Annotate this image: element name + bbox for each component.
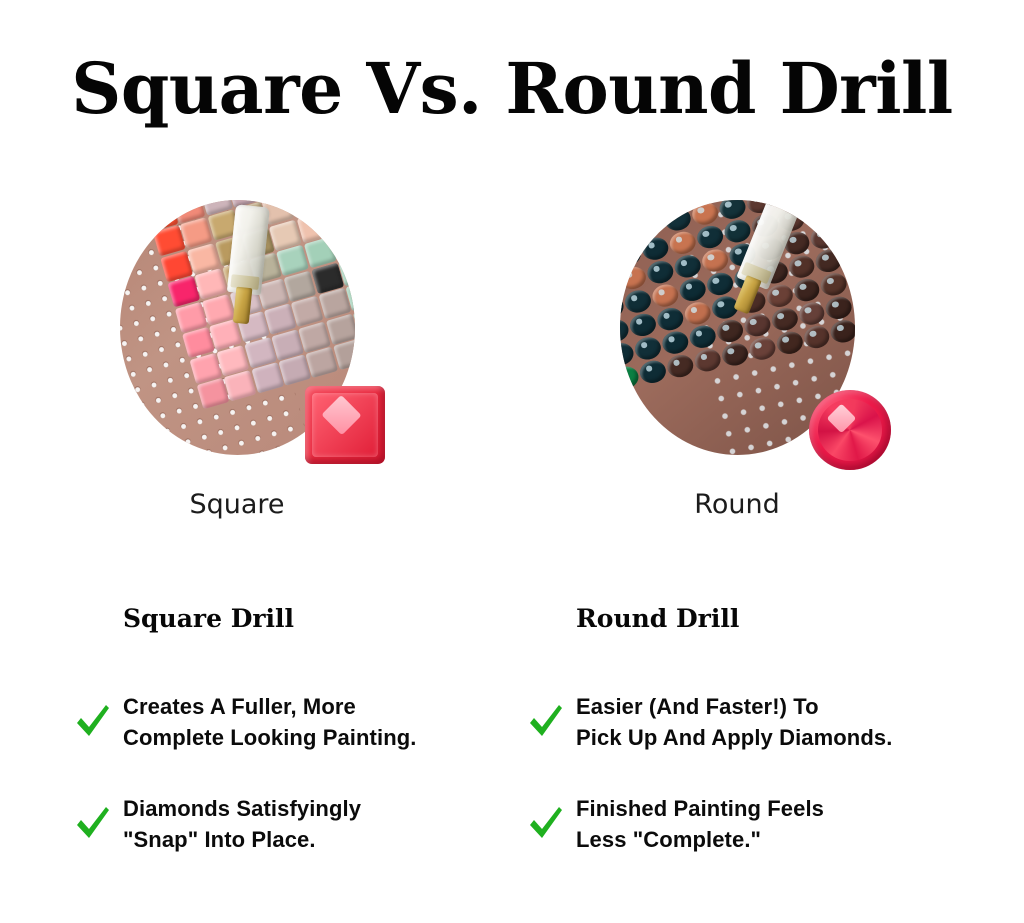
square-gem-swatch — [305, 386, 385, 464]
benefit-item: Diamonds Satisfyingly "Snap" Into Place. — [75, 793, 505, 855]
photo-comparison-row — [0, 200, 1024, 460]
round-photo-cell — [557, 200, 917, 460]
square-photo-cell — [57, 200, 417, 460]
green-check-icon — [75, 701, 111, 741]
round-drill-column: Round Drill Easier (And Faster!) To Pick… — [528, 604, 958, 895]
round-drill-heading: Round Drill — [576, 604, 958, 634]
page-title: Square Vs. Round Drill — [5, 46, 1019, 132]
square-drill-heading: Square Drill — [123, 604, 505, 634]
square-drill-column: Square Drill Creates A Fuller, More Comp… — [75, 604, 505, 895]
benefit-text: Finished Painting Feels Less "Complete." — [576, 793, 958, 855]
benefit-item: Finished Painting Feels Less "Complete." — [528, 793, 958, 855]
benefit-item: Easier (And Faster!) To Pick Up And Appl… — [528, 691, 958, 753]
benefit-text: Creates A Fuller, More Complete Looking … — [123, 691, 505, 753]
green-check-icon — [75, 803, 111, 843]
green-check-icon — [528, 803, 564, 843]
benefits-comparison: Square Drill Creates A Fuller, More Comp… — [0, 604, 1024, 894]
benefit-text: Easier (And Faster!) To Pick Up And Appl… — [576, 691, 958, 753]
green-check-icon — [528, 701, 564, 741]
benefit-text: Diamonds Satisfyingly "Snap" Into Place. — [123, 793, 505, 855]
photo-caption-row: Square Round — [0, 487, 1024, 527]
round-gem-swatch — [809, 390, 891, 470]
square-photo-caption: Square — [57, 487, 417, 523]
benefit-item: Creates A Fuller, More Complete Looking … — [75, 691, 505, 753]
round-photo-caption: Round — [557, 487, 917, 523]
